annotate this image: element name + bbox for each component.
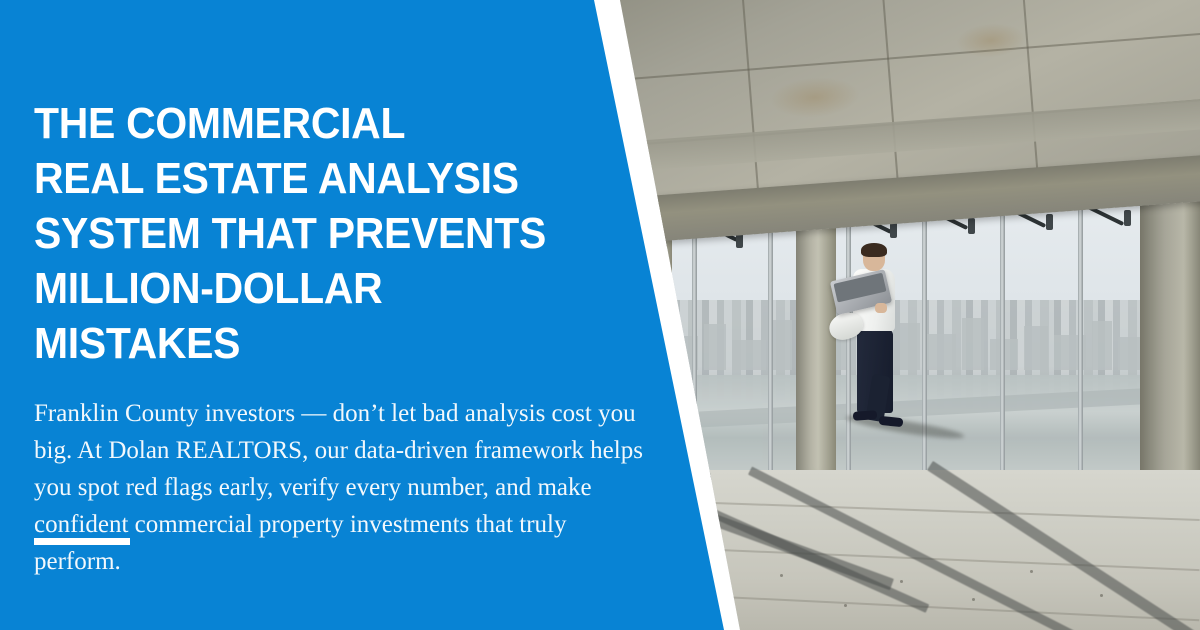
hand [875, 303, 887, 313]
subcopy-paragraph: Franklin County investors — don’t let ba… [34, 395, 646, 580]
hair [861, 243, 887, 257]
concrete-column [796, 196, 836, 486]
column-shadow [927, 461, 1200, 630]
businessman-figure [835, 245, 925, 435]
text-content-block: THE COMMERCIAL REAL ESTATE ANALYSIS SYST… [34, 96, 634, 580]
shoe [853, 410, 878, 421]
page-title: THE COMMERCIAL REAL ESTATE ANALYSIS SYST… [34, 96, 592, 371]
accent-rule [34, 538, 130, 545]
promo-banner: THE COMMERCIAL REAL ESTATE ANALYSIS SYST… [0, 0, 1200, 630]
